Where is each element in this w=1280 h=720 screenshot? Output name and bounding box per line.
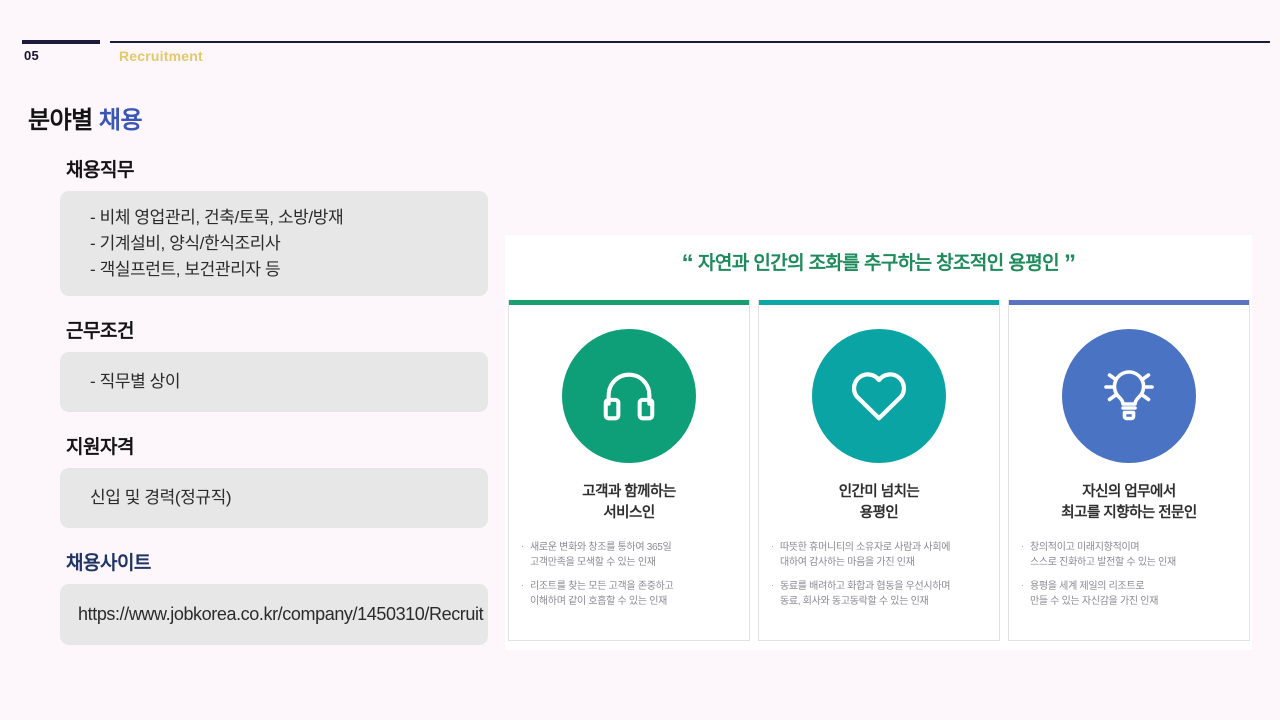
card-bullet-list: ·따뜻한 휴머니티의 소유자로 사람과 사회에대하여 감사하는 마음을 가진 인… <box>771 540 985 609</box>
vision-quote: “자연과 인간의 조화를 추구하는 창조적인 용평인” <box>505 235 1252 278</box>
info-line: - 비체 영업관리, 건축/토목, 소방/방재 <box>90 205 466 231</box>
card-title-line: 최고를 지향하는 전문인 <box>1009 503 1249 524</box>
bullet-text-line: 창의적이고 미래지향적이며 <box>1030 540 1235 555</box>
page-title-accent: 채용 <box>99 107 142 134</box>
page-number: 05 <box>24 48 39 63</box>
bullet-text: 동료를 배려하고 화합과 협동을 우선시하며동료, 회사와 동고동락할 수 있는… <box>780 579 985 609</box>
header-rule-group <box>0 40 1280 48</box>
bullet-text-line: 고객만족을 모색할 수 있는 인재 <box>530 555 735 570</box>
card-bullet: ·따뜻한 휴머니티의 소유자로 사람과 사회에대하여 감사하는 마음을 가진 인… <box>771 540 985 570</box>
info-box: - 직무별 상이 <box>60 352 488 412</box>
card-title-line: 서비스인 <box>509 503 749 524</box>
card-bullet: ·새로운 변화와 창조를 통하여 365일고객만족을 모색할 수 있는 인재 <box>521 540 735 570</box>
info-line: - 객실프런트, 보건관리자 등 <box>90 257 466 283</box>
bullet-marker-icon: · <box>521 540 530 570</box>
header-rule-thick <box>22 40 100 44</box>
card-title-line: 고객과 함께하는 <box>509 482 749 503</box>
quote-close-icon: ” <box>1059 250 1080 277</box>
left-sections: 채용직무- 비체 영업관리, 건축/토목, 소방/방재- 기계설비, 양식/한식… <box>0 155 500 645</box>
info-box: 신입 및 경력(정규직) <box>60 468 488 528</box>
vision-panel: “자연과 인간의 조화를 추구하는 창조적인 용평인” 고객과 함께하는서비스인… <box>505 235 1252 650</box>
info-line: https://www.jobkorea.co.kr/company/14503… <box>78 601 466 628</box>
vision-card: 고객과 함께하는서비스인·새로운 변화와 창조를 통하여 365일고객만족을 모… <box>508 300 750 641</box>
card-title: 인간미 넘치는용평인 <box>759 482 999 524</box>
card-accent-bar <box>1009 300 1249 305</box>
bullet-marker-icon: · <box>1021 540 1030 570</box>
vision-card: 자신의 업무에서최고를 지향하는 전문인·창의적이고 미래지향적이며스스로 진화… <box>1008 300 1250 641</box>
bullet-text: 리조트를 찾는 모든 고객을 존중하고이해하며 같이 호흡할 수 있는 인재 <box>530 579 735 609</box>
card-icon-badge <box>562 329 696 463</box>
heart-icon <box>848 367 910 425</box>
bullet-text-line: 따뜻한 휴머니티의 소유자로 사람과 사회에 <box>780 540 985 555</box>
card-accent-bar <box>759 300 999 305</box>
card-bullet-list: ·새로운 변화와 창조를 통하여 365일고객만족을 모색할 수 있는 인재·리… <box>521 540 735 609</box>
bullet-text-line: 만들 수 있는 자신감을 가진 인재 <box>1030 594 1235 609</box>
bullet-marker-icon: · <box>771 540 780 570</box>
card-bullet: ·용평을 세계 제일의 리조트로만들 수 있는 자신감을 가진 인재 <box>1021 579 1235 609</box>
bullet-text-line: 새로운 변화와 창조를 통하여 365일 <box>530 540 735 555</box>
card-accent-bar <box>509 300 749 305</box>
vision-card: 인간미 넘치는용평인·따뜻한 휴머니티의 소유자로 사람과 사회에대하여 감사하… <box>758 300 1000 641</box>
page-title: 분야별 채용 <box>28 100 500 135</box>
bullet-text-line: 동료, 회사와 동고동락할 수 있는 인재 <box>780 594 985 609</box>
lightbulb-icon <box>1095 363 1163 429</box>
card-bullet: ·리조트를 찾는 모든 고객을 존중하고이해하며 같이 호흡할 수 있는 인재 <box>521 579 735 609</box>
info-line: - 직무별 상이 <box>90 369 466 395</box>
section-heading: 채용사이트 <box>66 548 500 575</box>
headphones-icon <box>598 365 660 427</box>
bullet-marker-icon: · <box>771 579 780 609</box>
bullet-marker-icon: · <box>1021 579 1030 609</box>
card-bullet: ·동료를 배려하고 화합과 협동을 우선시하며동료, 회사와 동고동락할 수 있… <box>771 579 985 609</box>
card-title-line: 인간미 넘치는 <box>759 482 999 503</box>
info-box: - 비체 영업관리, 건축/토목, 소방/방재- 기계설비, 양식/한식조리사-… <box>60 191 488 296</box>
section-heading: 채용직무 <box>66 155 500 182</box>
card-title-line: 용평인 <box>759 503 999 524</box>
card-icon-badge <box>812 329 946 463</box>
bullet-text-line: 대하여 감사하는 마음을 가진 인재 <box>780 555 985 570</box>
header-rule-thin <box>110 41 1270 43</box>
bullet-text-line: 이해하며 같이 호흡할 수 있는 인재 <box>530 594 735 609</box>
recruit-url-box[interactable]: https://www.jobkorea.co.kr/company/14503… <box>60 584 488 645</box>
card-bullet-list: ·창의적이고 미래지향적이며스스로 진화하고 발전할 수 있는 인재·용평을 세… <box>1021 540 1235 609</box>
card-bullet: ·창의적이고 미래지향적이며스스로 진화하고 발전할 수 있는 인재 <box>1021 540 1235 570</box>
bullet-marker-icon: · <box>521 579 530 609</box>
bullet-text: 용평을 세계 제일의 리조트로만들 수 있는 자신감을 가진 인재 <box>1030 579 1235 609</box>
section-label: Recruitment <box>119 48 203 64</box>
bullet-text: 창의적이고 미래지향적이며스스로 진화하고 발전할 수 있는 인재 <box>1030 540 1235 570</box>
card-title: 고객과 함께하는서비스인 <box>509 482 749 524</box>
bullet-text-line: 동료를 배려하고 화합과 협동을 우선시하며 <box>780 579 985 594</box>
info-line: - 기계설비, 양식/한식조리사 <box>90 231 466 257</box>
quote-open-icon: “ <box>677 250 698 277</box>
vision-quote-text: 자연과 인간의 조화를 추구하는 창조적인 용평인 <box>698 253 1059 274</box>
bullet-text-line: 리조트를 찾는 모든 고객을 존중하고 <box>530 579 735 594</box>
page-title-plain: 분야별 <box>28 107 99 134</box>
section-heading: 지원자격 <box>66 432 500 459</box>
bullet-text: 따뜻한 휴머니티의 소유자로 사람과 사회에대하여 감사하는 마음을 가진 인재 <box>780 540 985 570</box>
bullet-text-line: 스스로 진화하고 발전할 수 있는 인재 <box>1030 555 1235 570</box>
vision-card-list: 고객과 함께하는서비스인·새로운 변화와 창조를 통하여 365일고객만족을 모… <box>508 300 1250 641</box>
section-heading: 근무조건 <box>66 316 500 343</box>
card-title: 자신의 업무에서최고를 지향하는 전문인 <box>1009 482 1249 524</box>
card-title-line: 자신의 업무에서 <box>1009 482 1249 503</box>
card-icon-badge <box>1062 329 1196 463</box>
bullet-text: 새로운 변화와 창조를 통하여 365일고객만족을 모색할 수 있는 인재 <box>530 540 735 570</box>
info-line: 신입 및 경력(정규직) <box>90 485 466 511</box>
left-column: 분야별 채용 채용직무- 비체 영업관리, 건축/토목, 소방/방재- 기계설비… <box>0 100 500 645</box>
bullet-text-line: 용평을 세계 제일의 리조트로 <box>1030 579 1235 594</box>
